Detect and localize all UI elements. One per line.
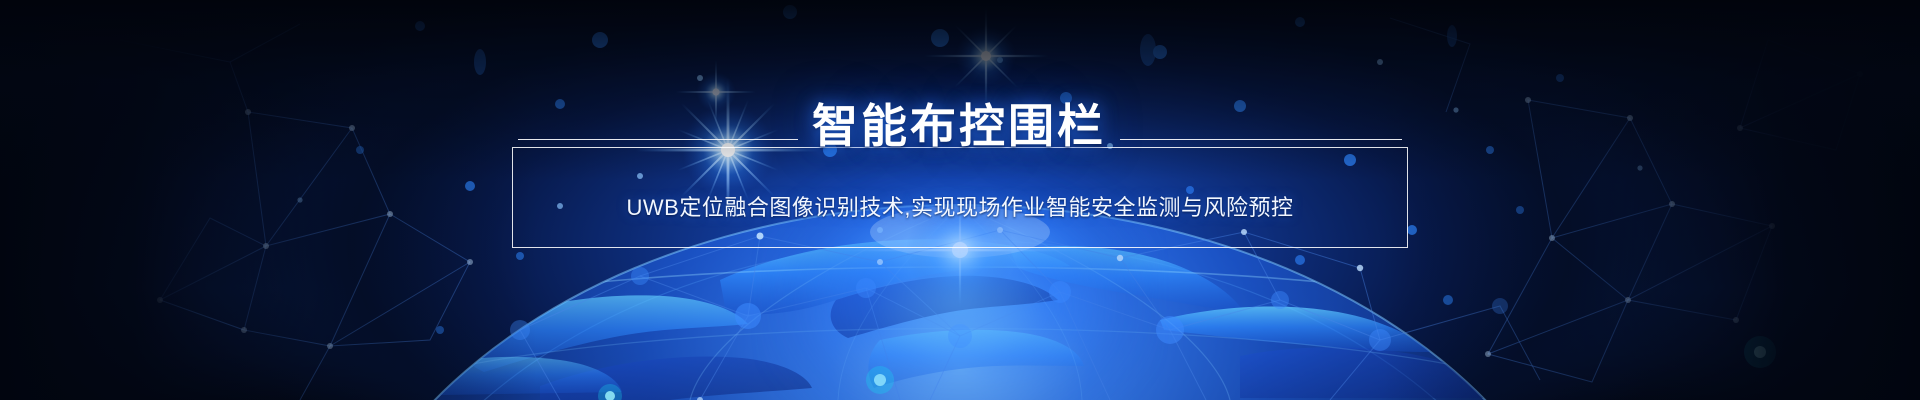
hero-banner: 智能布控围栏 UWB定位融合图像识别技术,实现现场作业智能安全监测与风险预控 xyxy=(0,0,1920,400)
title-rule-left xyxy=(518,139,798,140)
page-subtitle: UWB定位融合图像识别技术,实现现场作业智能安全监测与风险预控 xyxy=(512,190,1408,222)
title-row: 智能布控围栏 xyxy=(0,95,1920,157)
title-rule-right xyxy=(1120,139,1402,140)
page-title: 智能布控围栏 xyxy=(798,103,1120,149)
